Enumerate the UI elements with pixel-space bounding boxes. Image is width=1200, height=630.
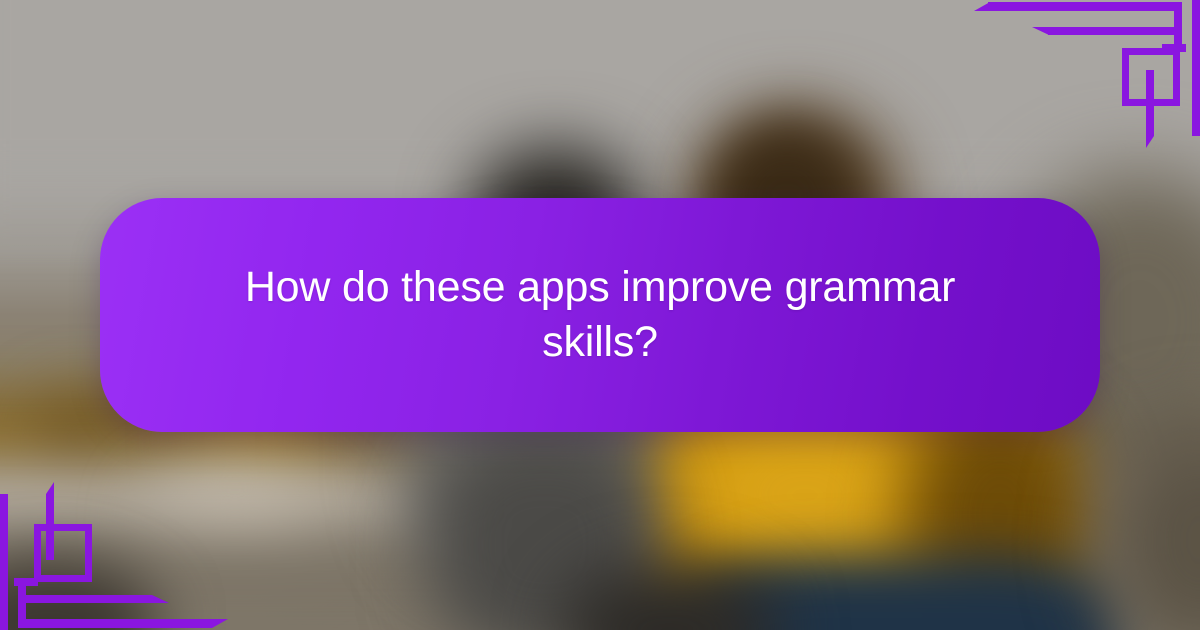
social-card-image: How do these apps improve grammar skills… [0, 0, 1200, 630]
question-card: How do these apps improve grammar skills… [100, 198, 1100, 432]
question-text: How do these apps improve grammar skills… [244, 260, 956, 370]
